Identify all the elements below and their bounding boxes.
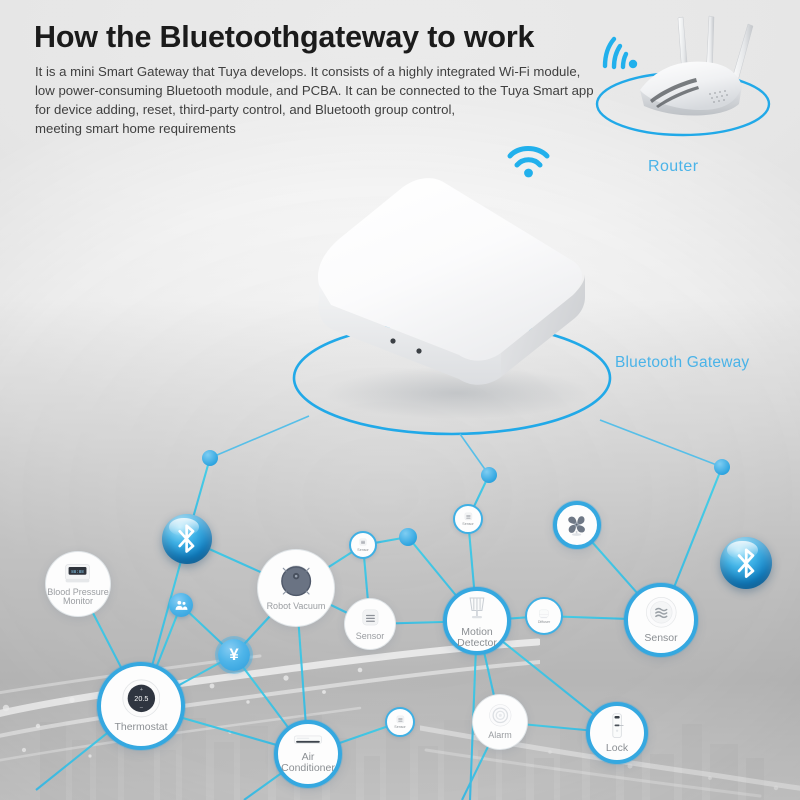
air-conditioner-icon (293, 734, 323, 748)
device-node-label: Alarm (488, 731, 512, 741)
chip-users[interactable] (169, 593, 193, 617)
device-node-label: Air Conditioner (278, 752, 338, 775)
chip-yen[interactable]: ¥ (218, 639, 250, 671)
device-node-label: Robot Vacuum (267, 602, 326, 612)
connection-dot-right (714, 459, 730, 475)
wifi-icon (598, 35, 642, 73)
gateway-illustration (287, 165, 617, 420)
diffuser-icon (537, 608, 551, 620)
router-device (596, 8, 782, 148)
device-node-sensor-center[interactable]: Sensor (344, 598, 396, 650)
device-node-label: Sensor (356, 632, 385, 642)
device-node-label: Lock (606, 743, 628, 754)
thermostat-icon: 20.5 + − (122, 679, 161, 718)
device-node-motion-detector[interactable]: Motion Detector (443, 587, 511, 655)
bluetooth-badge-right[interactable] (720, 537, 772, 589)
device-node-label: Sensor (462, 523, 473, 527)
connection-dot-left (202, 450, 218, 466)
device-node-label: Sensor (357, 549, 368, 553)
device-node-sensor-small-b[interactable]: Sensor (453, 504, 483, 534)
infographic-canvas: How the Bluetoothgateway to work It is a… (0, 0, 800, 800)
device-node-sensor-right[interactable]: Sensor (624, 583, 698, 657)
sensor-wave-icon (645, 596, 678, 629)
device-node-thermostat[interactable]: 20.5 + − Thermostat (97, 662, 185, 750)
fan-icon (564, 512, 589, 537)
users-icon (174, 598, 189, 613)
device-node-label: Diffuser (538, 621, 550, 625)
device-node-diffuser[interactable]: Diffuser (525, 597, 563, 635)
sensor-icon (359, 606, 382, 629)
device-node-label: Sensor (394, 726, 405, 730)
svg-text:+: + (139, 687, 142, 693)
robot-vacuum-icon (279, 564, 313, 598)
device-node-label: Motion Detector (447, 627, 507, 650)
device-node-sensor-small-a[interactable]: Sensor (349, 531, 377, 559)
connection-dot-center (481, 467, 497, 483)
alarm-icon (488, 703, 513, 728)
device-node-robot-vacuum[interactable]: Robot Vacuum (257, 549, 335, 627)
lock-icon (610, 712, 624, 739)
bluetooth-icon (171, 523, 202, 554)
device-node-blood-pressure-monitor[interactable]: 88:88 Blood Pressure Monitor (45, 551, 111, 617)
wifi-icon (504, 140, 554, 180)
motion-detector-icon (462, 593, 492, 623)
device-node-label: Blood Pressure Monitor (47, 588, 110, 607)
yen-icon: ¥ (229, 645, 238, 665)
sensor-icon (358, 537, 368, 547)
device-node-lock[interactable]: Lock (586, 702, 648, 764)
device-node-alarm[interactable]: Alarm (472, 694, 528, 750)
svg-text:20.5: 20.5 (134, 694, 148, 703)
bluetooth-icon (730, 547, 763, 580)
device-node-fan[interactable] (553, 501, 601, 549)
device-node-label: Sensor (644, 633, 677, 644)
bluetooth-gateway-device (287, 165, 617, 420)
device-node-label: Thermostat (114, 722, 167, 733)
bluetooth-badge-left[interactable] (162, 514, 212, 564)
sensor-icon (395, 714, 406, 725)
connection-dot-mid (399, 528, 417, 546)
router-illustration (596, 8, 782, 148)
svg-text:88:88: 88:88 (72, 571, 85, 575)
device-node-sensor-small-c[interactable]: Sensor (385, 707, 415, 737)
blood-pressure-monitor-icon: 88:88 (63, 561, 92, 585)
gateway-downlinks (210, 416, 722, 475)
device-node-air-conditioner[interactable]: Air Conditioner (274, 720, 342, 788)
svg-text:−: − (139, 705, 143, 712)
sensor-icon (463, 511, 474, 522)
